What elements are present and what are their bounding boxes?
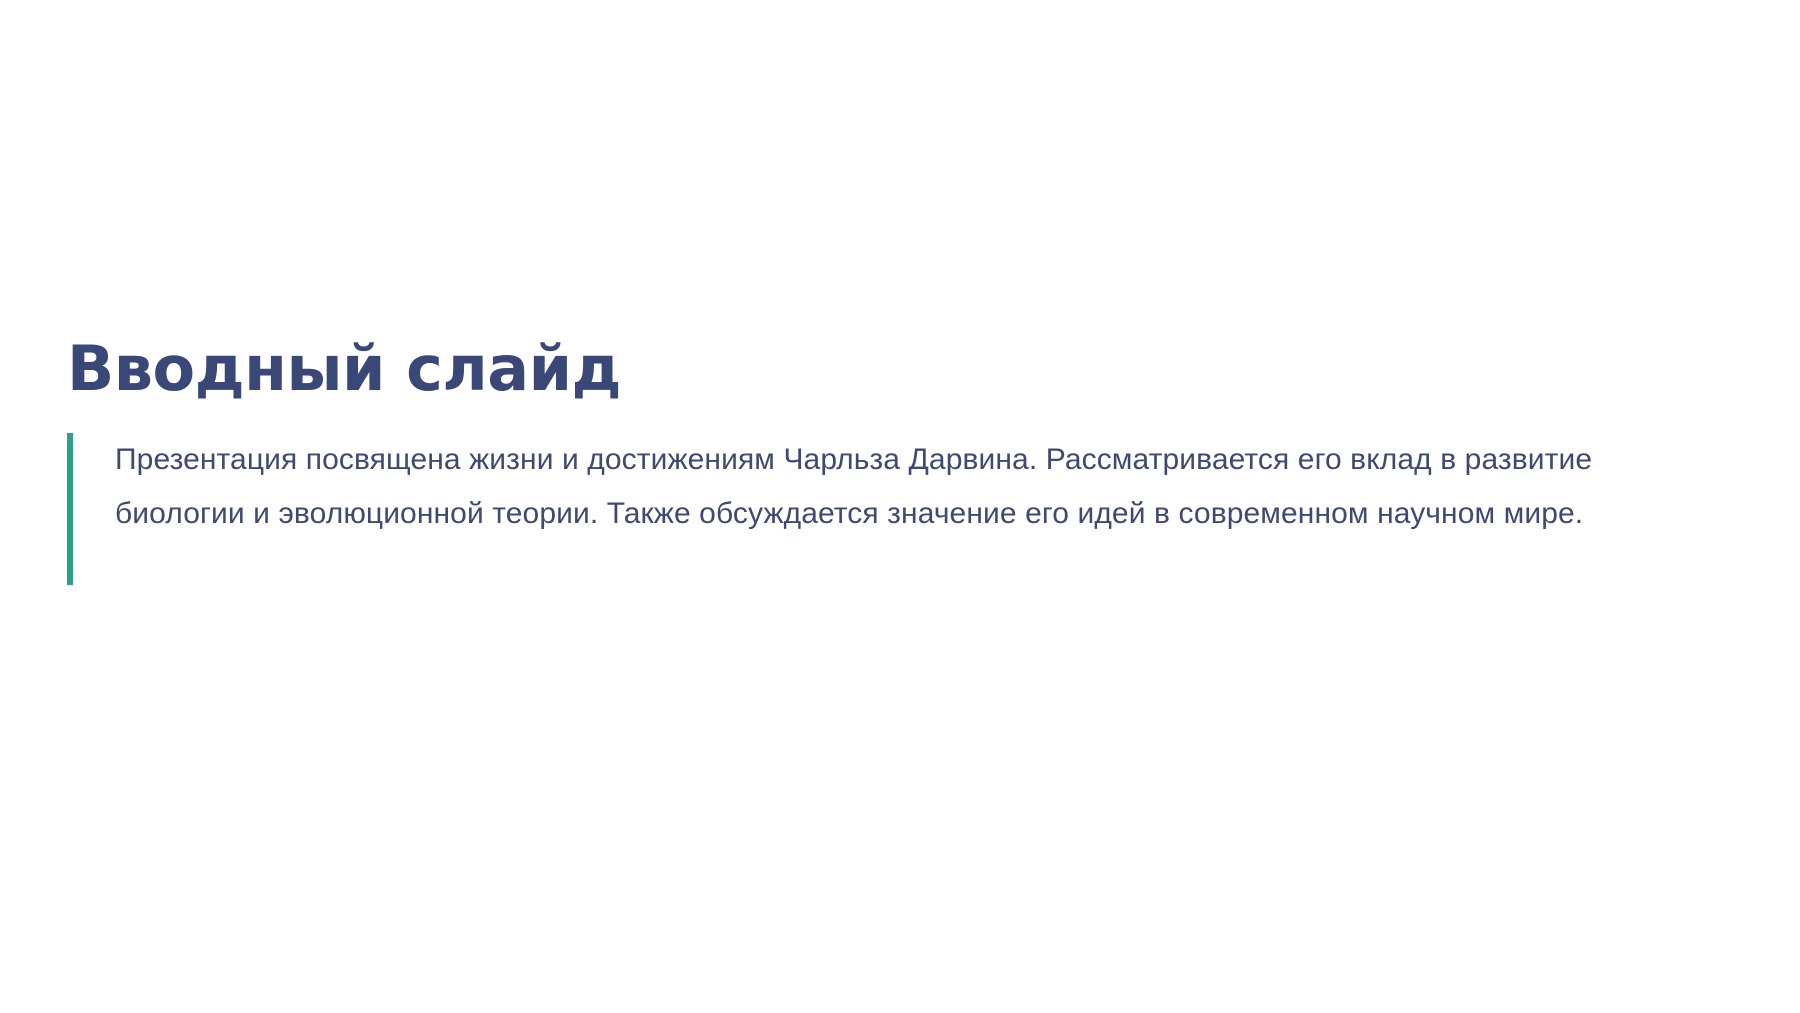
page-title: Вводный слайд [67, 330, 1747, 408]
slide-body-text: Презентация посвящена жизни и достижения… [115, 433, 1715, 541]
slide-content: Вводный слайд Презентация посвящена жизн… [67, 330, 1747, 585]
slide-body-block: Презентация посвящена жизни и достижения… [67, 433, 1747, 585]
accent-bar [67, 433, 73, 585]
presentation-slide: Вводный слайд Презентация посвящена жизн… [0, 0, 1800, 1013]
